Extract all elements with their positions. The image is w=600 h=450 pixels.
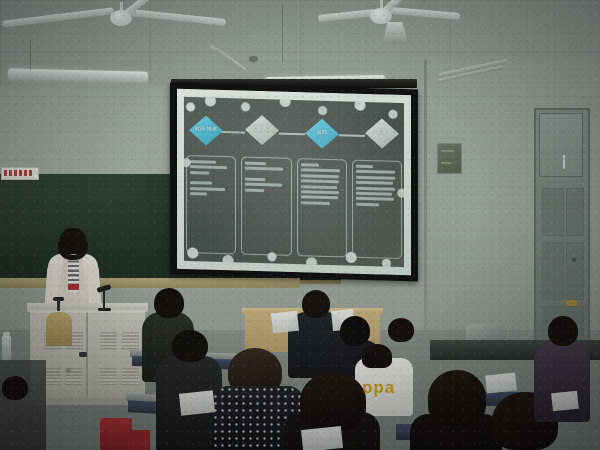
audience-head [2, 376, 28, 400]
text-box-purpose [297, 158, 347, 257]
podium-knob[interactable] [66, 368, 71, 373]
audience-torso [0, 396, 38, 450]
audience-head [340, 316, 370, 346]
diamond-label-2: 对象 方法 [251, 127, 273, 133]
wall-corner [424, 60, 427, 360]
podium-vent-8 [122, 368, 139, 386]
audience-head [300, 372, 366, 430]
banner-text [4, 170, 34, 176]
wall-plaque [437, 143, 462, 174]
red-text-wall-banner [1, 167, 39, 180]
paper-sheet-6 [551, 391, 579, 412]
door-lock[interactable] [572, 258, 576, 262]
jacket-back-text: ppa [362, 378, 395, 398]
diamond-label-1: 时间 地点 [195, 127, 217, 133]
door-panel-right-upper [566, 188, 584, 236]
door-panel-upper [542, 188, 564, 236]
red-equipment-case-2 [128, 430, 150, 450]
audience-head [428, 370, 486, 426]
screen-surface: 时间 地点 对象 方法 目的 背景 [177, 89, 411, 276]
ceiling-wire-2 [30, 40, 31, 70]
microphone-stand [103, 290, 105, 310]
presenter-hair [60, 228, 86, 254]
audience-head [172, 330, 208, 362]
plaque-text-line-1 [441, 150, 454, 152]
audience-head-ppa [362, 344, 392, 368]
door-panel-right-lower [566, 242, 584, 300]
podium-vent-7 [100, 368, 117, 386]
diamond-purpose: 目的 [305, 118, 339, 149]
audience-head [548, 316, 578, 346]
podium-vent-4 [122, 332, 139, 350]
wooden-chair [46, 312, 72, 346]
diamond-connector-3 [339, 134, 365, 137]
diamond-object-method: 对象 方法 [245, 115, 279, 146]
presentation-slide: 时间 地点 对象 方法 目的 背景 [177, 89, 411, 276]
presenter-scarf-red-band [68, 284, 79, 290]
projection-screen: 时间 地点 对象 方法 目的 背景 [170, 83, 418, 282]
text-box-background [352, 160, 402, 259]
paper-sheet-5 [485, 372, 517, 393]
audience-head [302, 290, 330, 318]
podium-door-seam [86, 313, 88, 401]
classroom-photo: 时间 地点 对象 方法 目的 背景 [0, 0, 600, 450]
paper-sheet-1 [271, 311, 299, 334]
door-transom-latch [563, 155, 565, 169]
podium-vent-3 [100, 332, 117, 350]
ceiling-wire [282, 4, 283, 62]
paper-sheet-4 [301, 426, 343, 450]
diamond-time-place: 时间 地点 [189, 115, 223, 146]
diamond-connector-1 [219, 131, 245, 134]
diamond-label-3: 目的 [317, 131, 327, 137]
podium-vent-5 [44, 368, 61, 386]
audience-head [154, 288, 184, 318]
smoke-detector [249, 56, 258, 62]
text-box-time-place [186, 155, 236, 254]
door-handle[interactable] [566, 300, 577, 306]
diamond-background: 背景 [365, 118, 399, 149]
podium-lock[interactable] [79, 352, 87, 357]
plaque-text-line-2 [441, 162, 451, 164]
slide-text-box-row [186, 155, 402, 259]
diamond-label-4: 背景 [377, 131, 387, 137]
diamond-connector-2 [279, 133, 305, 136]
door-panel-lower [542, 242, 564, 300]
text-box-object-method [241, 157, 291, 256]
door-transom-window [539, 113, 583, 177]
paper-sheet-3 [179, 390, 215, 415]
slide-diamond-row: 时间 地点 对象 方法 目的 背景 [185, 113, 403, 153]
audience-head [388, 318, 414, 342]
water-bottle [2, 336, 11, 362]
microphone-stand-2 [57, 300, 60, 311]
